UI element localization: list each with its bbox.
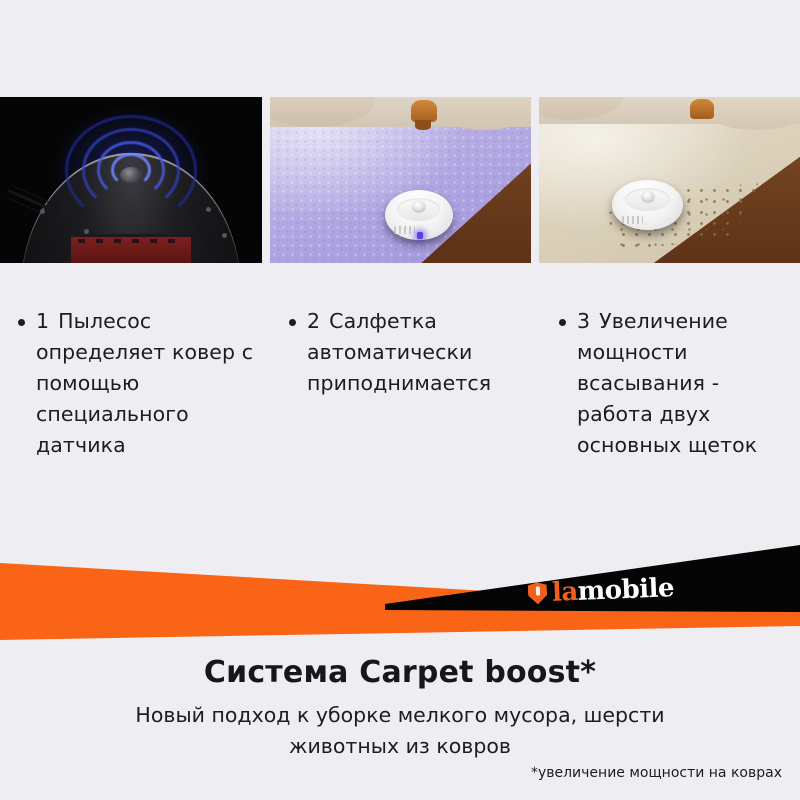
feature-bullets: 1Пылесос определяет ковер с помощью спец… bbox=[0, 306, 800, 461]
feature-bullet-2: 2Салфетка автоматически приподнимается bbox=[285, 306, 550, 461]
carpet-sensor-hub bbox=[120, 167, 142, 183]
underside-screw bbox=[222, 233, 227, 238]
footnote-text: *увеличение мощности на коврах bbox=[0, 765, 782, 781]
lidar-turret bbox=[642, 191, 654, 201]
photo-strip bbox=[0, 97, 800, 263]
feature-bullet-1-body: Пылесос определяет ковер с помощью специ… bbox=[36, 309, 253, 457]
brand-logo-la: la bbox=[551, 577, 578, 608]
robot-vent bbox=[622, 216, 643, 224]
feature-bullet-3-text: 3Увеличение мощности всасывания - работа… bbox=[577, 306, 794, 461]
shield-icon bbox=[528, 582, 548, 605]
robot-vacuum bbox=[612, 180, 682, 230]
photo-robot-underside-sensor bbox=[0, 97, 262, 263]
pet-icon bbox=[690, 99, 714, 119]
bullet-dot-icon bbox=[289, 319, 296, 326]
brand-logo-text: lamobile bbox=[552, 575, 675, 606]
promo-banner-page: 1Пылесос определяет ковер с помощью спец… bbox=[0, 0, 800, 800]
photo-robot-on-purple-rug bbox=[270, 97, 531, 263]
robot-status-led bbox=[417, 232, 423, 239]
bullet-dot-icon bbox=[18, 319, 25, 326]
brand-logo-mobile: mobile bbox=[577, 573, 674, 607]
feature-bullet-1-number: 1 bbox=[36, 309, 49, 333]
feature-bullet-3-number: 3 bbox=[577, 309, 590, 333]
feature-bullet-2-number: 2 bbox=[307, 309, 320, 333]
main-brush-bar bbox=[71, 234, 192, 263]
lidar-turret bbox=[413, 201, 425, 211]
robot-vacuum bbox=[385, 190, 453, 240]
page-title: Система Carpet boost* bbox=[0, 655, 800, 690]
feature-bullet-2-body: Салфетка автоматически приподнимается bbox=[307, 309, 491, 395]
bullet-dot-icon bbox=[559, 319, 566, 326]
underside-screw bbox=[40, 209, 45, 214]
feature-bullet-1: 1Пылесос определяет ковер с помощью спец… bbox=[0, 306, 285, 461]
page-subtitle: Новый подход к уборке мелкого мусора, ше… bbox=[100, 700, 700, 762]
feature-bullet-3-body: Увеличение мощности всасывания - работа … bbox=[577, 309, 757, 457]
feature-bullet-2-text: 2Салфетка автоматически приподнимается bbox=[307, 306, 540, 399]
photo-robot-on-beige-rug bbox=[539, 97, 800, 263]
brand-ribbon-banner bbox=[0, 525, 800, 660]
brand-logo: lamobile bbox=[528, 575, 675, 607]
robot-vent bbox=[394, 226, 414, 234]
feature-bullet-3: 3Увеличение мощности всасывания - работа… bbox=[550, 306, 800, 461]
feature-bullet-1-text: 1Пылесос определяет ковер с помощью спец… bbox=[36, 306, 275, 461]
underside-screw bbox=[206, 207, 211, 212]
pet-icon bbox=[411, 100, 437, 122]
